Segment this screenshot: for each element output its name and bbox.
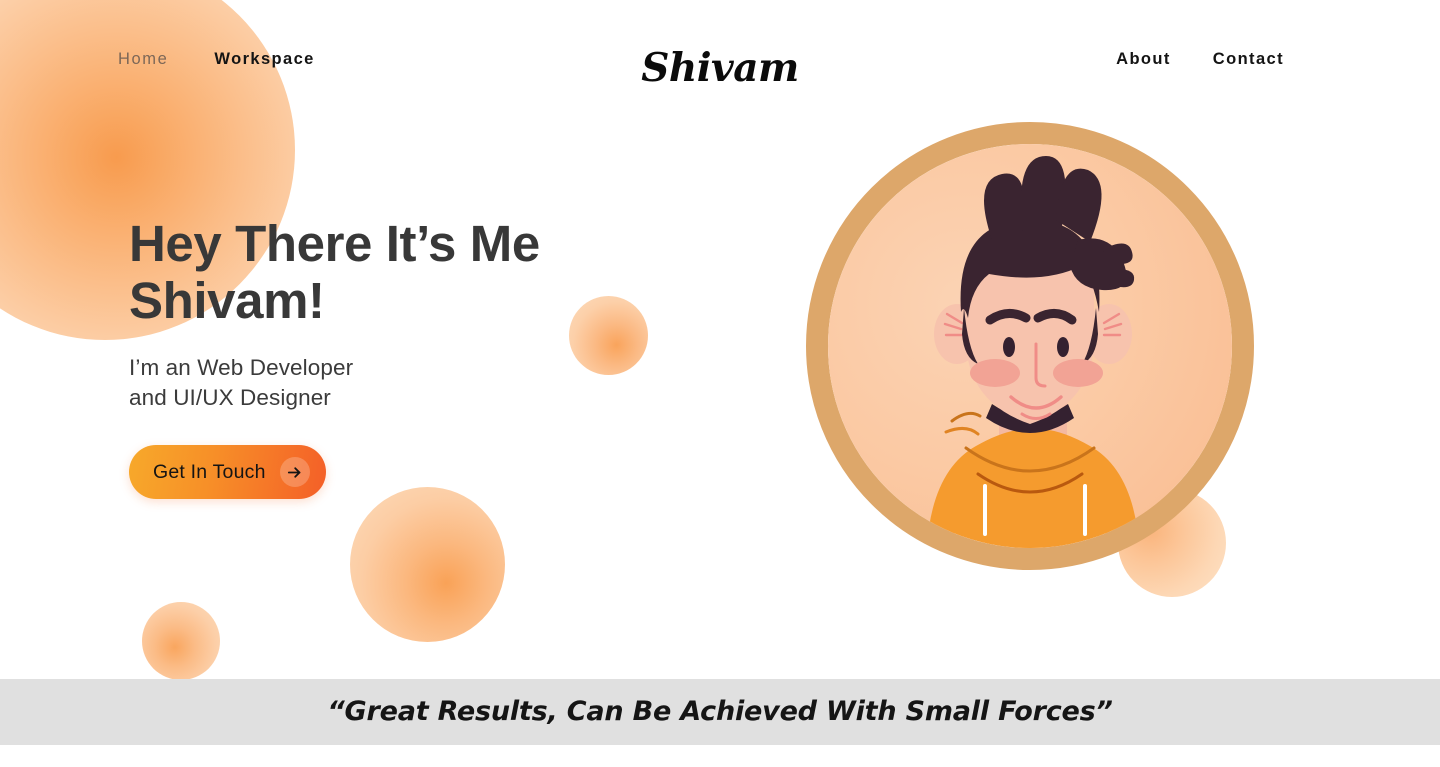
nav-links-left: Home Workspace <box>118 48 315 70</box>
navbar: Home Workspace Shivam About Contact <box>0 0 1440 120</box>
get-in-touch-button[interactable]: Get In Touch <box>129 445 326 499</box>
nav-link-home[interactable]: Home <box>118 48 168 70</box>
avatar <box>806 122 1254 570</box>
hero-subtitle: I’m an Web Developer and UI/UX Designer <box>129 353 689 413</box>
arrow-right-icon <box>280 457 310 487</box>
get-in-touch-label: Get In Touch <box>153 460 266 484</box>
nav-link-about[interactable]: About <box>1116 48 1171 70</box>
quote-banner: “Great Results, Can Be Achieved With Sma… <box>0 679 1440 745</box>
brand-logo[interactable]: Shivam <box>641 46 799 90</box>
left-eye <box>1003 337 1015 357</box>
hero-section: Hey There It’s Me Shivam! I’m an Web Dev… <box>129 215 689 499</box>
decor-bubble-large <box>350 487 505 642</box>
right-eye <box>1057 337 1069 357</box>
nav-link-workspace[interactable]: Workspace <box>214 48 314 70</box>
nav-link-contact[interactable]: Contact <box>1213 48 1284 70</box>
decor-bubble-small <box>142 602 220 680</box>
hero-title: Hey There It’s Me Shivam! <box>129 215 689 329</box>
nav-links-right: About Contact <box>1116 48 1284 70</box>
quote-text: “Great Results, Can Be Achieved With Sma… <box>327 696 1112 728</box>
